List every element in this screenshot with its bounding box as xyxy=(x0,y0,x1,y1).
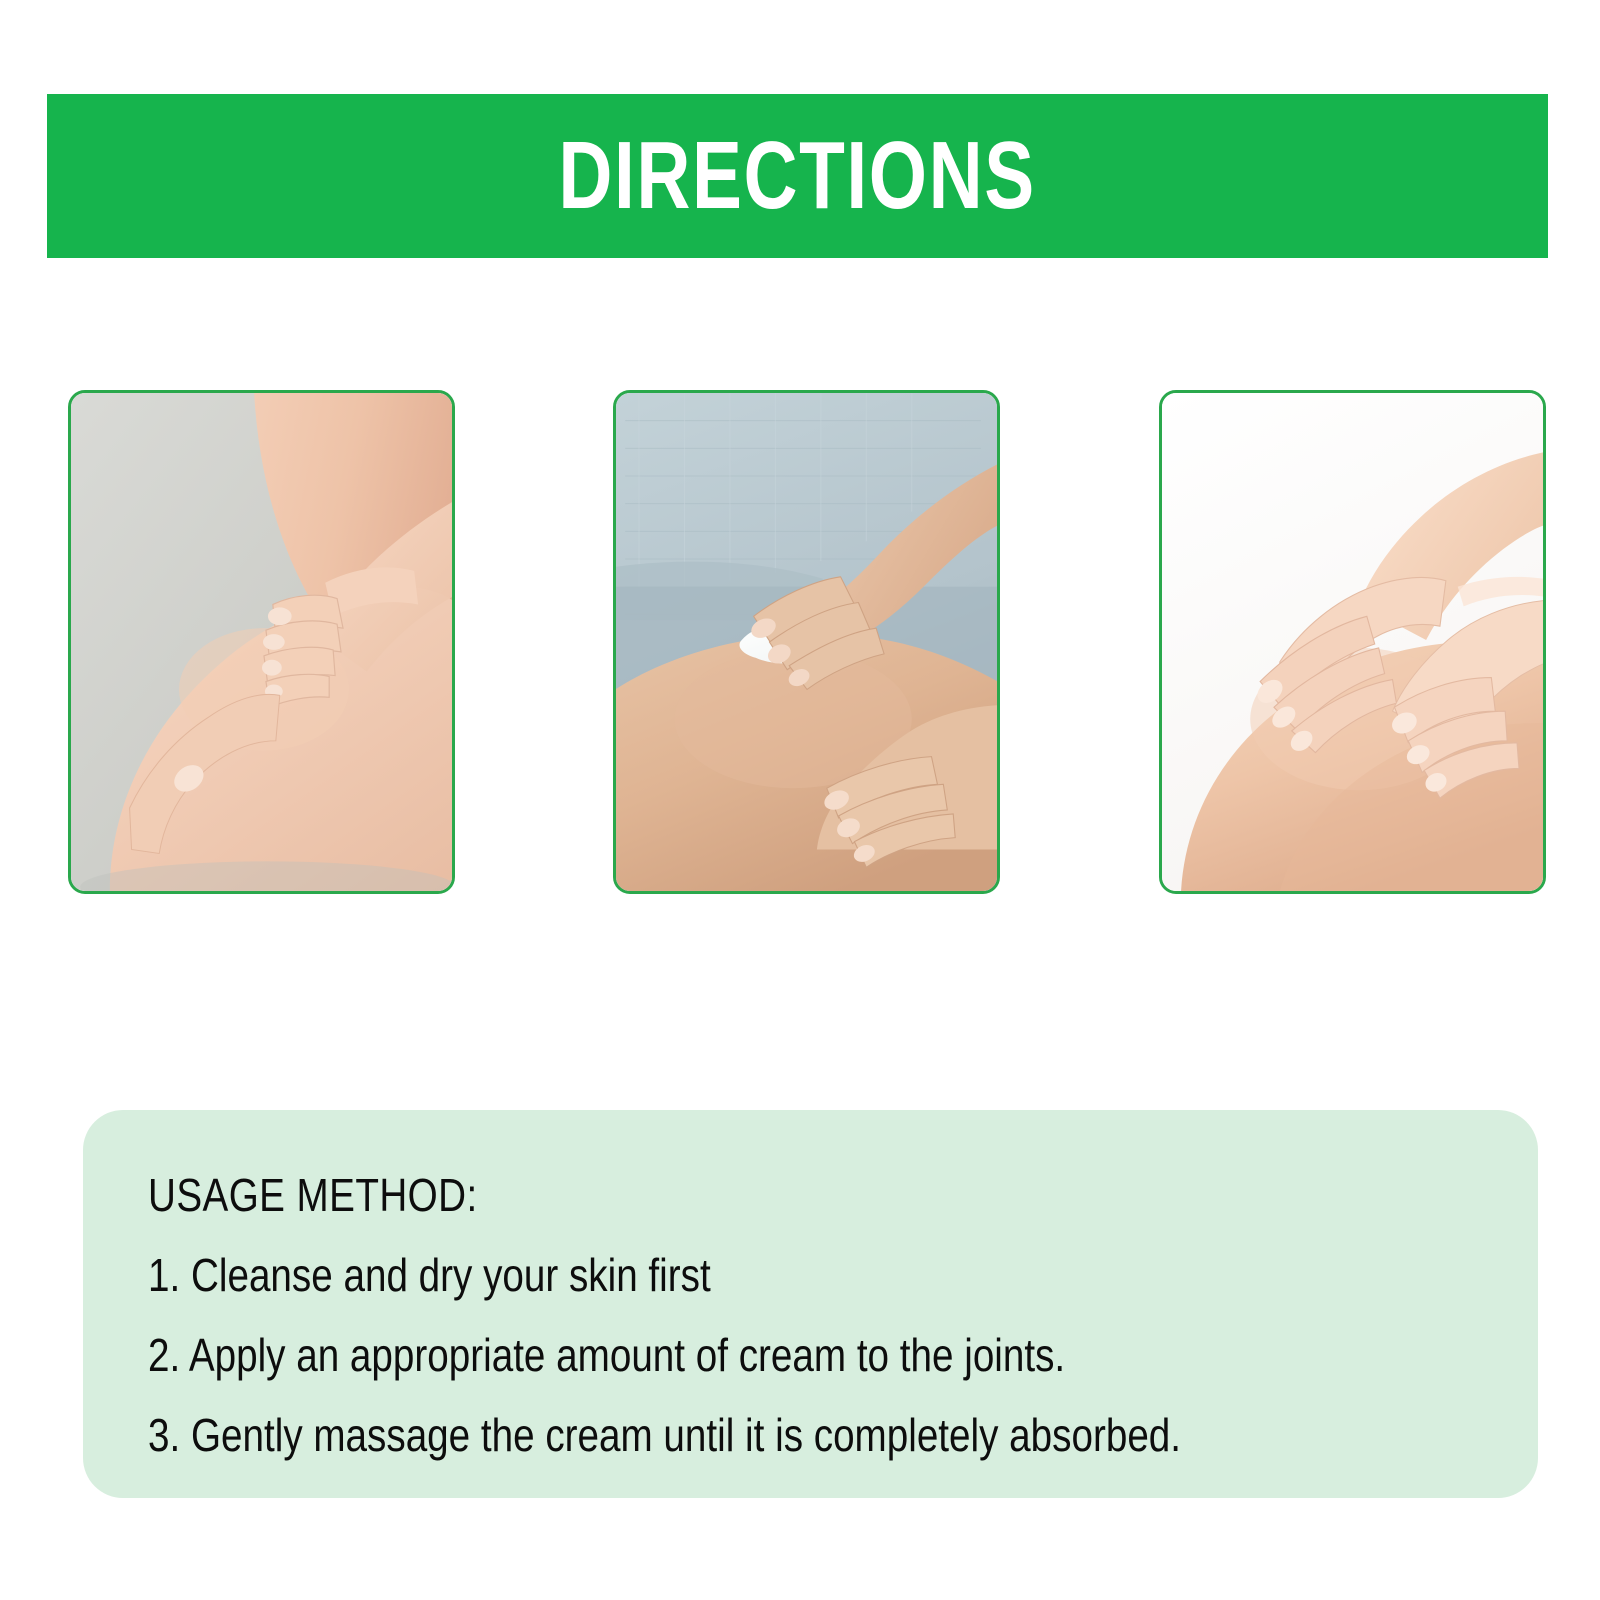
usage-method-panel: USAGE METHOD: 1. Cleanse and dry your sk… xyxy=(83,1110,1538,1498)
usage-step-2: 2. Apply an appropriate amount of cream … xyxy=(148,1332,1316,1378)
page-title: DIRECTIONS xyxy=(559,128,1036,224)
step-card-2 xyxy=(613,390,1000,894)
step-2-photo xyxy=(616,393,997,891)
step-3-photo xyxy=(1162,393,1543,891)
step-1-photo xyxy=(71,393,452,891)
step-card-3 xyxy=(1159,390,1546,894)
usage-step-1: 1. Cleanse and dry your skin first xyxy=(148,1252,1316,1298)
header-banner: DIRECTIONS xyxy=(47,94,1548,258)
usage-method-heading: USAGE METHOD: xyxy=(148,1172,1316,1218)
directions-infographic: DIRECTIONS xyxy=(0,0,1600,1600)
usage-step-3: 3. Gently massage the cream until it is … xyxy=(148,1412,1316,1458)
step-card-1 xyxy=(68,390,455,894)
